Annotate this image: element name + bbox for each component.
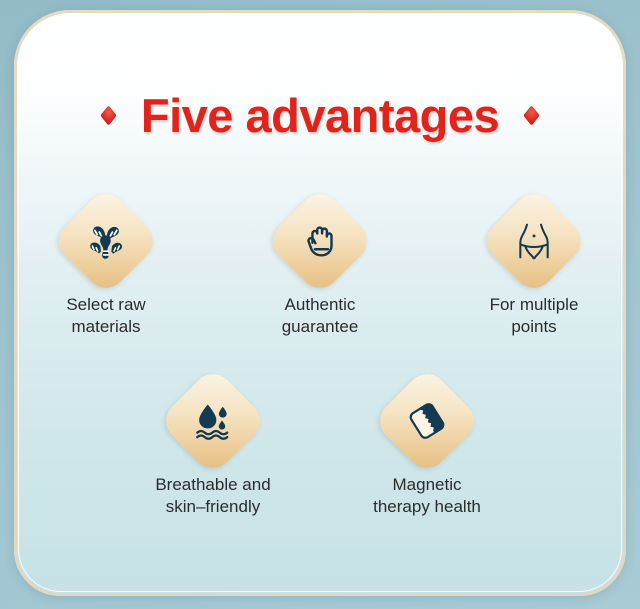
diamond-bullet-right-icon bbox=[523, 105, 539, 125]
water-drop-waves-icon bbox=[174, 382, 252, 460]
advantage-label: Breathable and skin–friendly bbox=[155, 474, 270, 519]
advantage-item-for-multiple-points: For multiple points bbox=[458, 182, 610, 339]
advantage-tile bbox=[265, 186, 375, 296]
advantage-item-authentic-guarantee: Authentic guarantee bbox=[244, 182, 396, 339]
advantage-tile bbox=[158, 366, 268, 476]
advantage-item-select-raw-materials: Select raw materials bbox=[30, 182, 182, 339]
magnet-patch-icon bbox=[388, 382, 466, 460]
poster-card: Five advantages bbox=[14, 10, 626, 596]
waist-belly-icon bbox=[495, 202, 573, 280]
advantage-tile bbox=[51, 186, 161, 296]
advantage-label: For multiple points bbox=[490, 294, 579, 339]
advantage-item-breathable-skin-friendly: Breathable and skin–friendly bbox=[137, 362, 289, 519]
ginger-root-icon bbox=[67, 202, 145, 280]
poster-background: Five advantages bbox=[0, 0, 640, 609]
title-row: Five advantages bbox=[14, 88, 626, 143]
advantage-label: Magnetic therapy health bbox=[373, 474, 481, 519]
advantage-tile bbox=[372, 366, 482, 476]
advantages-row-bottom: Breathable and skin–friendly Magnetic th bbox=[14, 362, 626, 519]
advantages-row-top: Select raw materials Authenti bbox=[14, 182, 626, 339]
page-title: Five advantages bbox=[141, 88, 499, 143]
raised-hand-icon bbox=[281, 202, 359, 280]
advantage-tile bbox=[479, 186, 589, 296]
diamond-bullet-left-icon bbox=[100, 105, 116, 125]
advantage-label: Select raw materials bbox=[66, 294, 145, 339]
advantage-label: Authentic guarantee bbox=[282, 294, 359, 339]
advantage-item-magnetic-therapy-health: Magnetic therapy health bbox=[351, 362, 503, 519]
